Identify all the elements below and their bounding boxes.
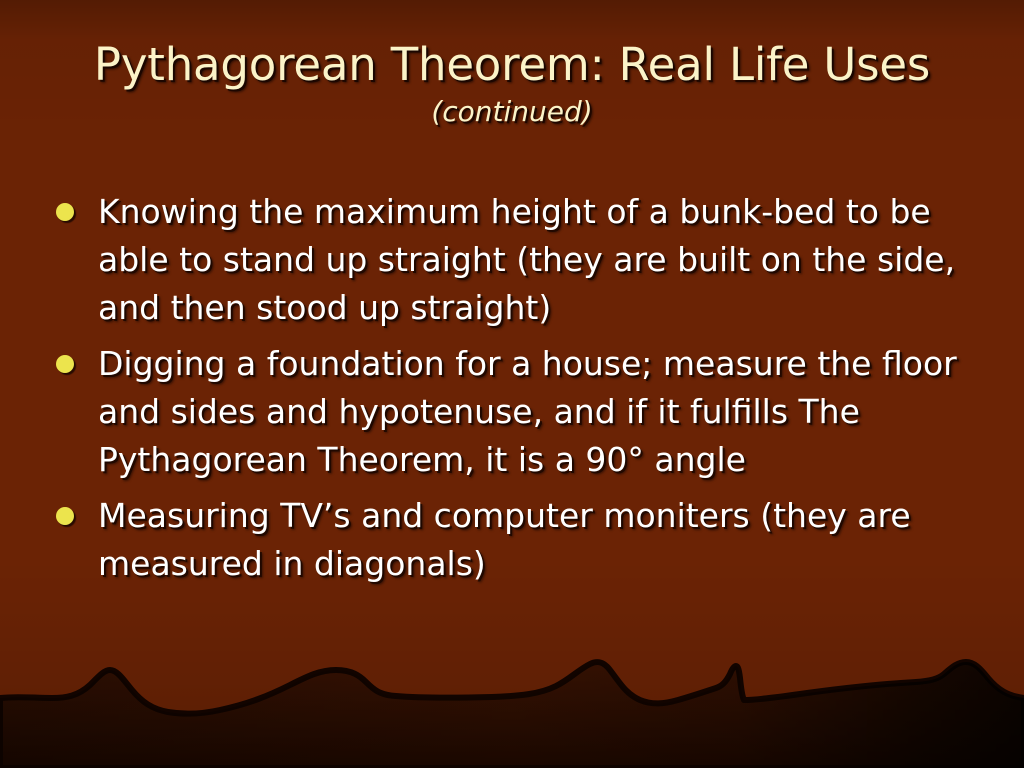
page-title: Pythagorean Theorem: Real Life Uses <box>0 38 1024 92</box>
slide-content: Pythagorean Theorem: Real Life Uses (con… <box>0 0 1024 768</box>
bullet-dot-icon <box>56 507 74 525</box>
bullet-dot-icon <box>56 355 74 373</box>
list-item-text: Digging a foundation for a house; measur… <box>98 340 968 484</box>
list-item-text: Knowing the maximum height of a bunk-bed… <box>98 188 968 332</box>
presentation-slide: Pythagorean Theorem: Real Life Uses (con… <box>0 0 1024 768</box>
list-item-text: Measuring TV’s and computer moniters (th… <box>98 492 968 588</box>
list-item: Knowing the maximum height of a bunk-bed… <box>56 188 968 332</box>
bullet-dot-icon <box>56 203 74 221</box>
bullet-list: Knowing the maximum height of a bunk-bed… <box>56 188 968 596</box>
list-item: Digging a foundation for a house; measur… <box>56 340 968 484</box>
page-subtitle: (continued) <box>0 94 1024 130</box>
title-block: Pythagorean Theorem: Real Life Uses (con… <box>0 38 1024 130</box>
list-item: Measuring TV’s and computer moniters (th… <box>56 492 968 588</box>
